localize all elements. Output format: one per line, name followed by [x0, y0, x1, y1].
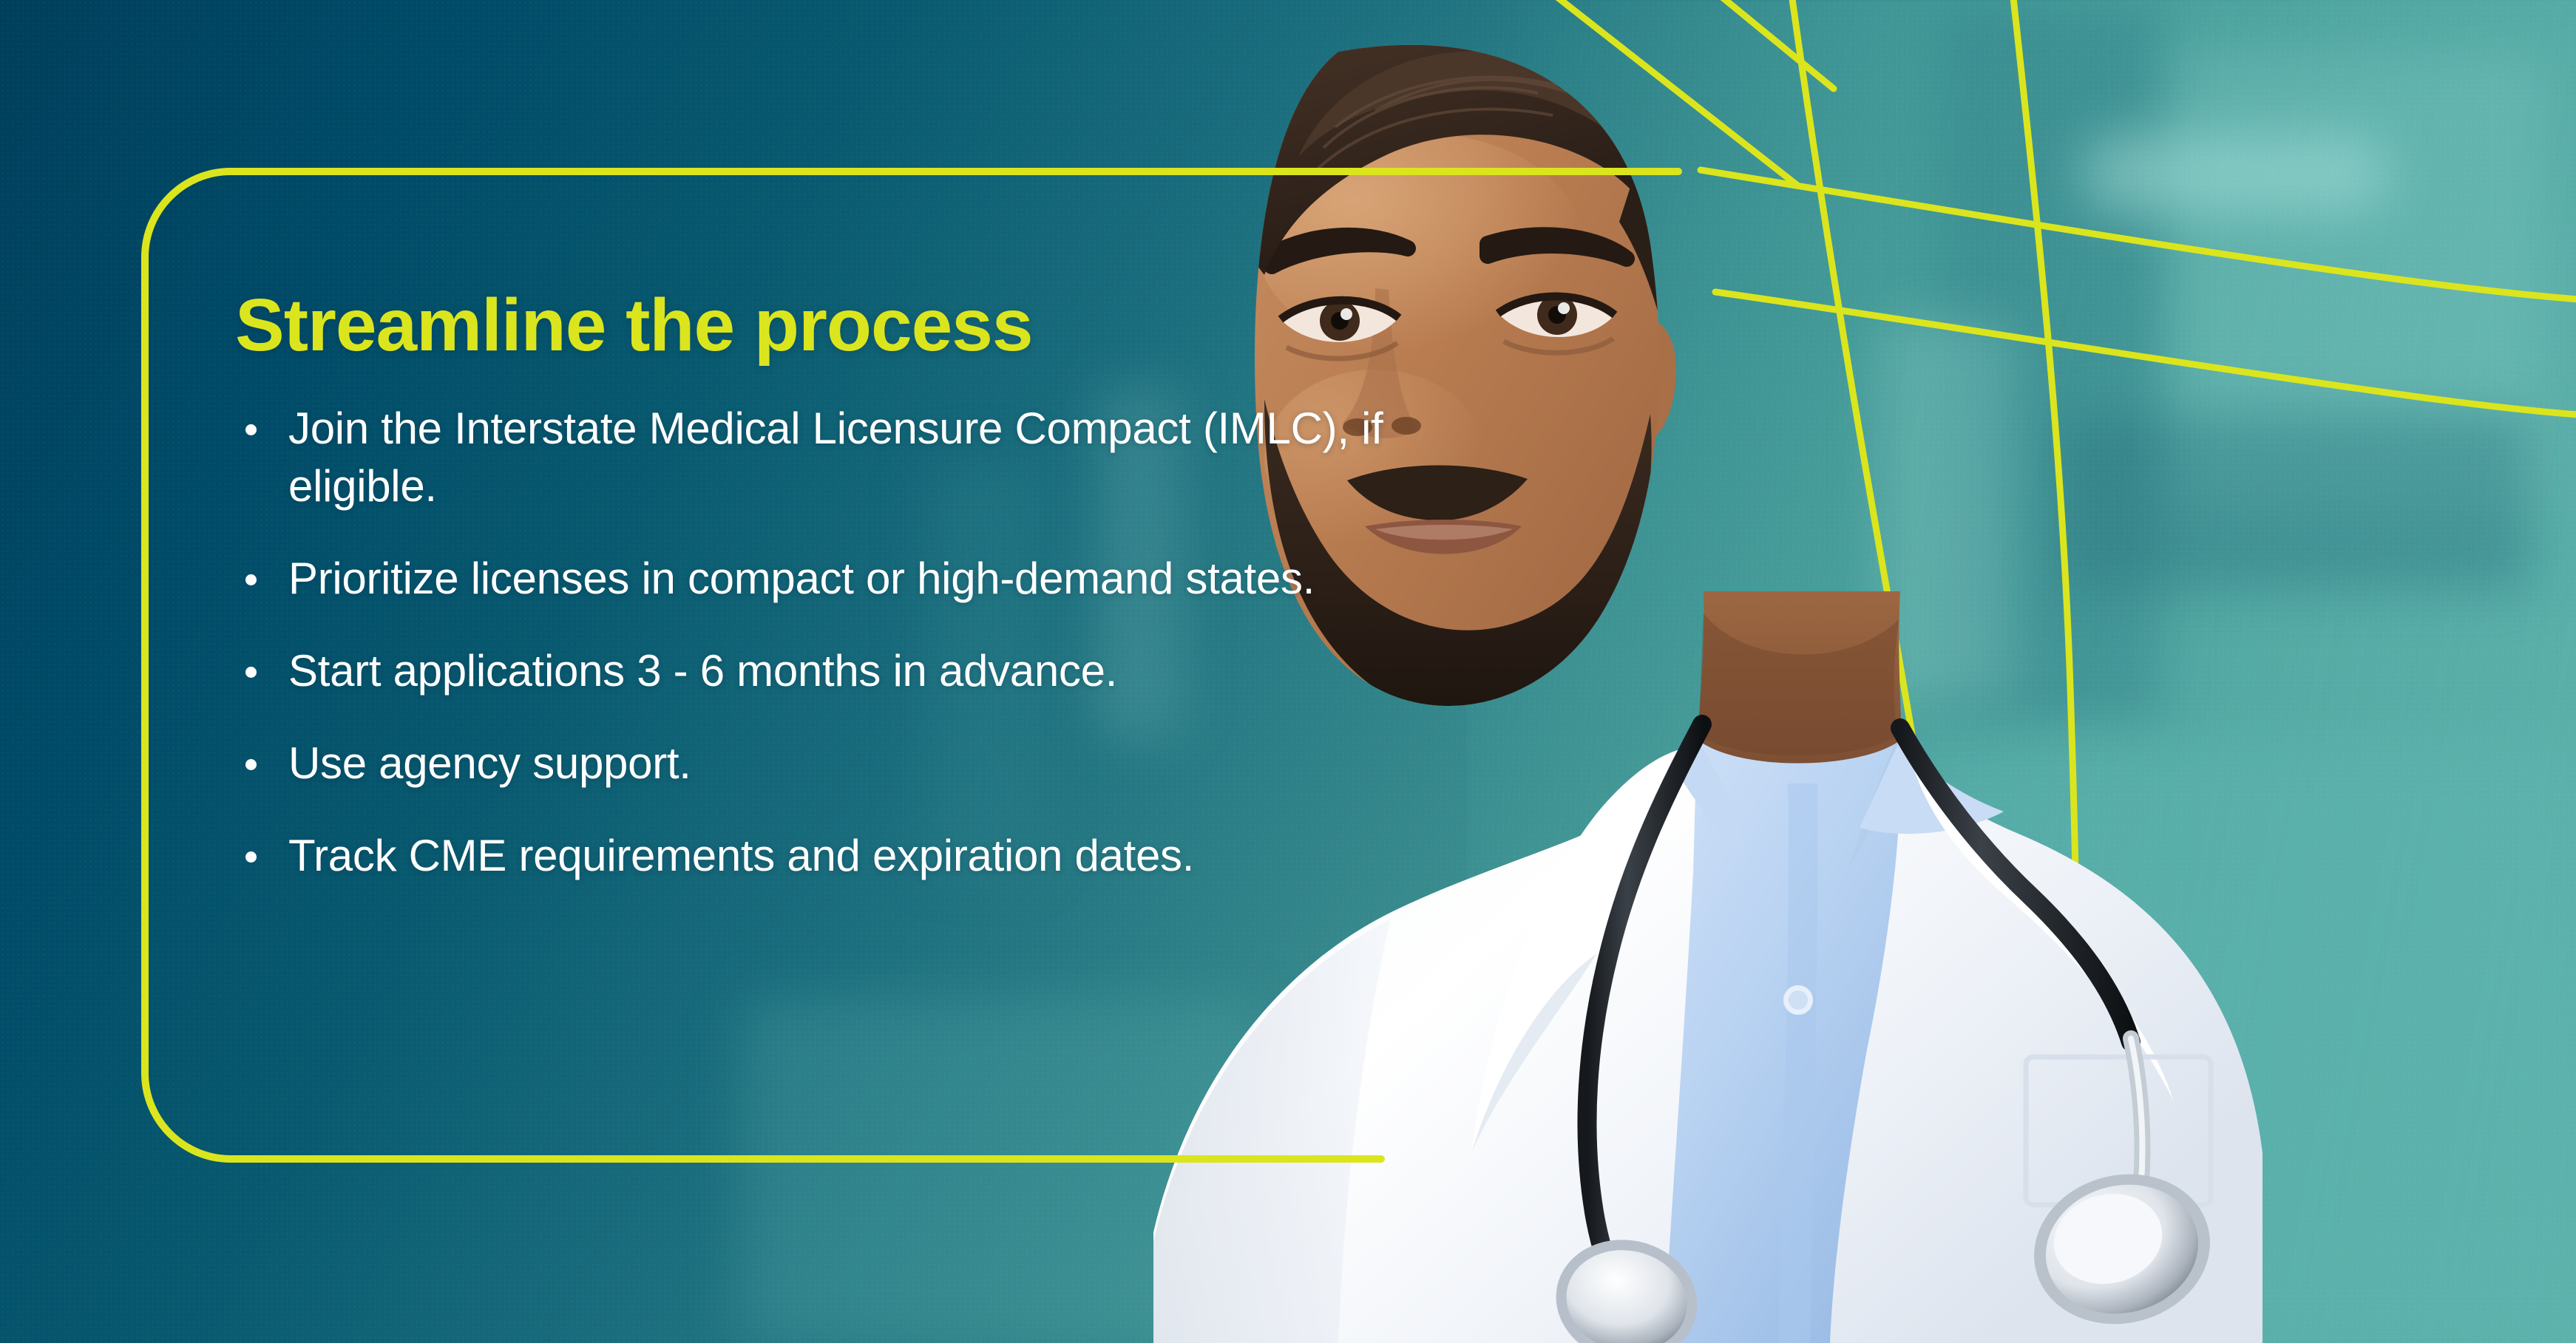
- list-item: Prioritize licenses in compact or high-d…: [235, 550, 1492, 608]
- list-item: Join the Interstate Medical Licensure Co…: [235, 400, 1492, 515]
- bullet-dot-icon: [245, 851, 257, 863]
- list-item: Use agency support.: [235, 735, 1492, 792]
- list-item: Start applications 3 - 6 months in advan…: [235, 642, 1492, 700]
- banner-stage: Streamline the process Join the Intersta…: [0, 0, 2576, 1343]
- bullet-dot-icon: [245, 759, 257, 770]
- list-item-label: Prioritize licenses in compact or high-d…: [288, 554, 1315, 603]
- bullet-dot-icon: [245, 574, 257, 585]
- bullet-dot-icon: [245, 424, 257, 435]
- list-item: Track CME requirements and expiration da…: [235, 827, 1492, 885]
- list-item-label: Start applications 3 - 6 months in advan…: [288, 646, 1117, 696]
- list-item-label: Join the Interstate Medical Licensure Co…: [288, 404, 1383, 511]
- banner-content: Streamline the process Join the Intersta…: [235, 287, 1492, 885]
- list-item-label: Track CME requirements and expiration da…: [288, 831, 1194, 880]
- list-item-label: Use agency support.: [288, 738, 691, 788]
- page-title: Streamline the process: [235, 287, 1492, 364]
- benefits-list: Join the Interstate Medical Licensure Co…: [235, 400, 1492, 885]
- bullet-dot-icon: [245, 667, 257, 678]
